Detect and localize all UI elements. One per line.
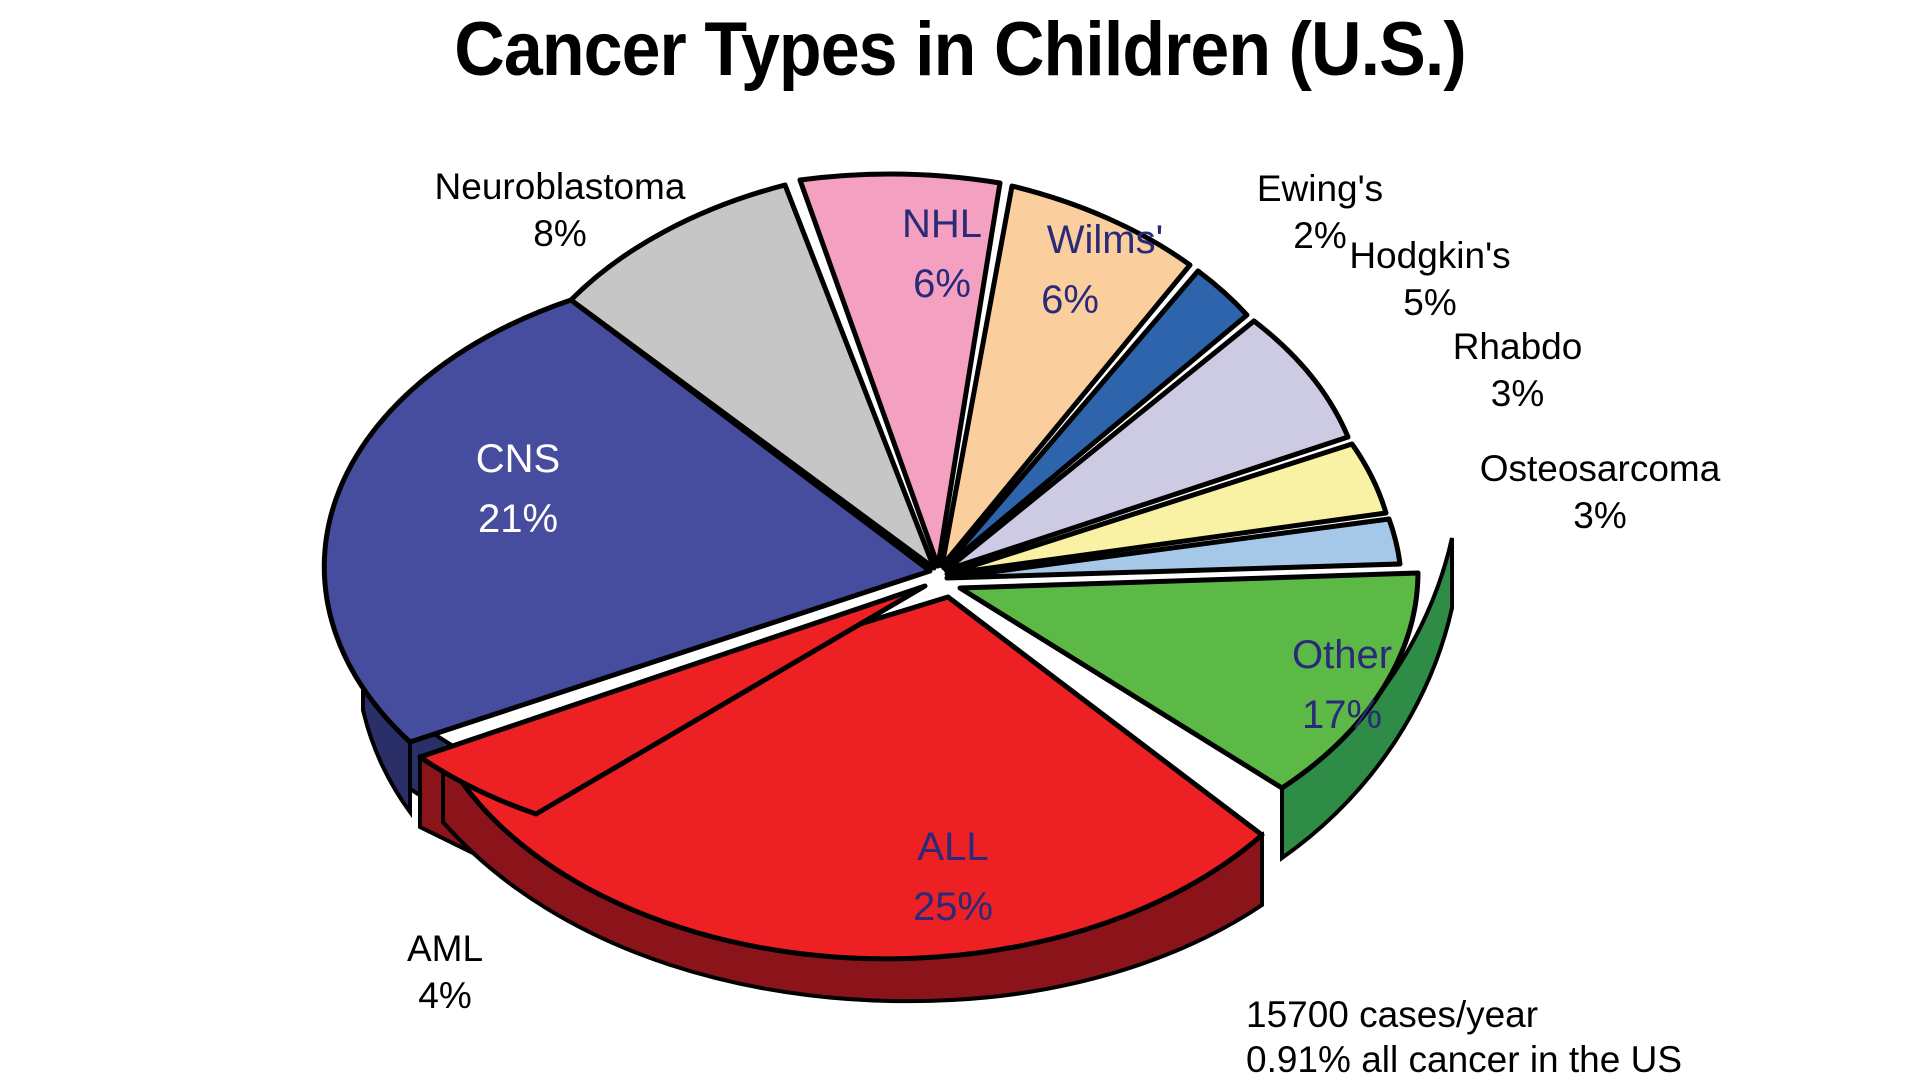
callout-osteosarcoma-pct: 3% — [1455, 492, 1745, 539]
footnote-share-of-all-cancer: 0.91% all cancer in the US — [1246, 1037, 1682, 1080]
slice-label-wilms-pct: 6% — [1041, 278, 1099, 322]
slice-label-nhl-pct: 6% — [913, 262, 971, 306]
pie-chart-graphic: CNS 21% NHL 6% Wilms' 6% Other 17% ALL 2… — [0, 0, 1920, 1080]
footnote-block: 15700 cases/year 0.91% all cancer in the… — [1246, 992, 1682, 1080]
callout-hodgkins-name: Hodgkin's — [1349, 235, 1510, 276]
callout-neuroblastoma-pct: 8% — [430, 210, 690, 257]
callout-osteosarcoma-name: Osteosarcoma — [1480, 448, 1721, 489]
callout-aml-pct: 4% — [385, 972, 505, 1019]
callout-aml-name: AML — [407, 928, 483, 969]
callout-neuroblastoma-name: Neuroblastoma — [435, 166, 686, 207]
slice-label-other-name: Other — [1292, 633, 1392, 677]
callout-hodgkins: Hodgkin's 5% — [1335, 232, 1525, 327]
callout-rhabdo: Rhabdo 3% — [1430, 323, 1605, 418]
slice-label-all-pct: 25% — [913, 885, 993, 929]
callout-hodgkins-pct: 5% — [1335, 279, 1525, 326]
callout-osteosarcoma: Osteosarcoma 3% — [1455, 445, 1745, 540]
callout-rhabdo-pct: 3% — [1430, 370, 1605, 417]
pie-chart-page: Cancer Types in Children (U.S.) — [0, 0, 1920, 1080]
callout-rhabdo-name: Rhabdo — [1453, 326, 1583, 367]
slice-label-all-name: ALL — [917, 825, 988, 869]
callout-neuroblastoma: Neuroblastoma 8% — [430, 163, 690, 258]
callout-aml: AML 4% — [385, 925, 505, 1020]
slice-label-other-pct: 17% — [1302, 693, 1382, 737]
footnote-cases-per-year: 15700 cases/year — [1246, 992, 1682, 1037]
callout-ewings-name: Ewing's — [1257, 168, 1383, 209]
slice-label-cns-name: CNS — [476, 437, 560, 481]
slice-label-wilms-name: Wilms' — [1047, 218, 1163, 262]
slice-label-nhl-name: NHL — [902, 202, 982, 246]
slice-label-cns-pct: 21% — [478, 497, 558, 541]
